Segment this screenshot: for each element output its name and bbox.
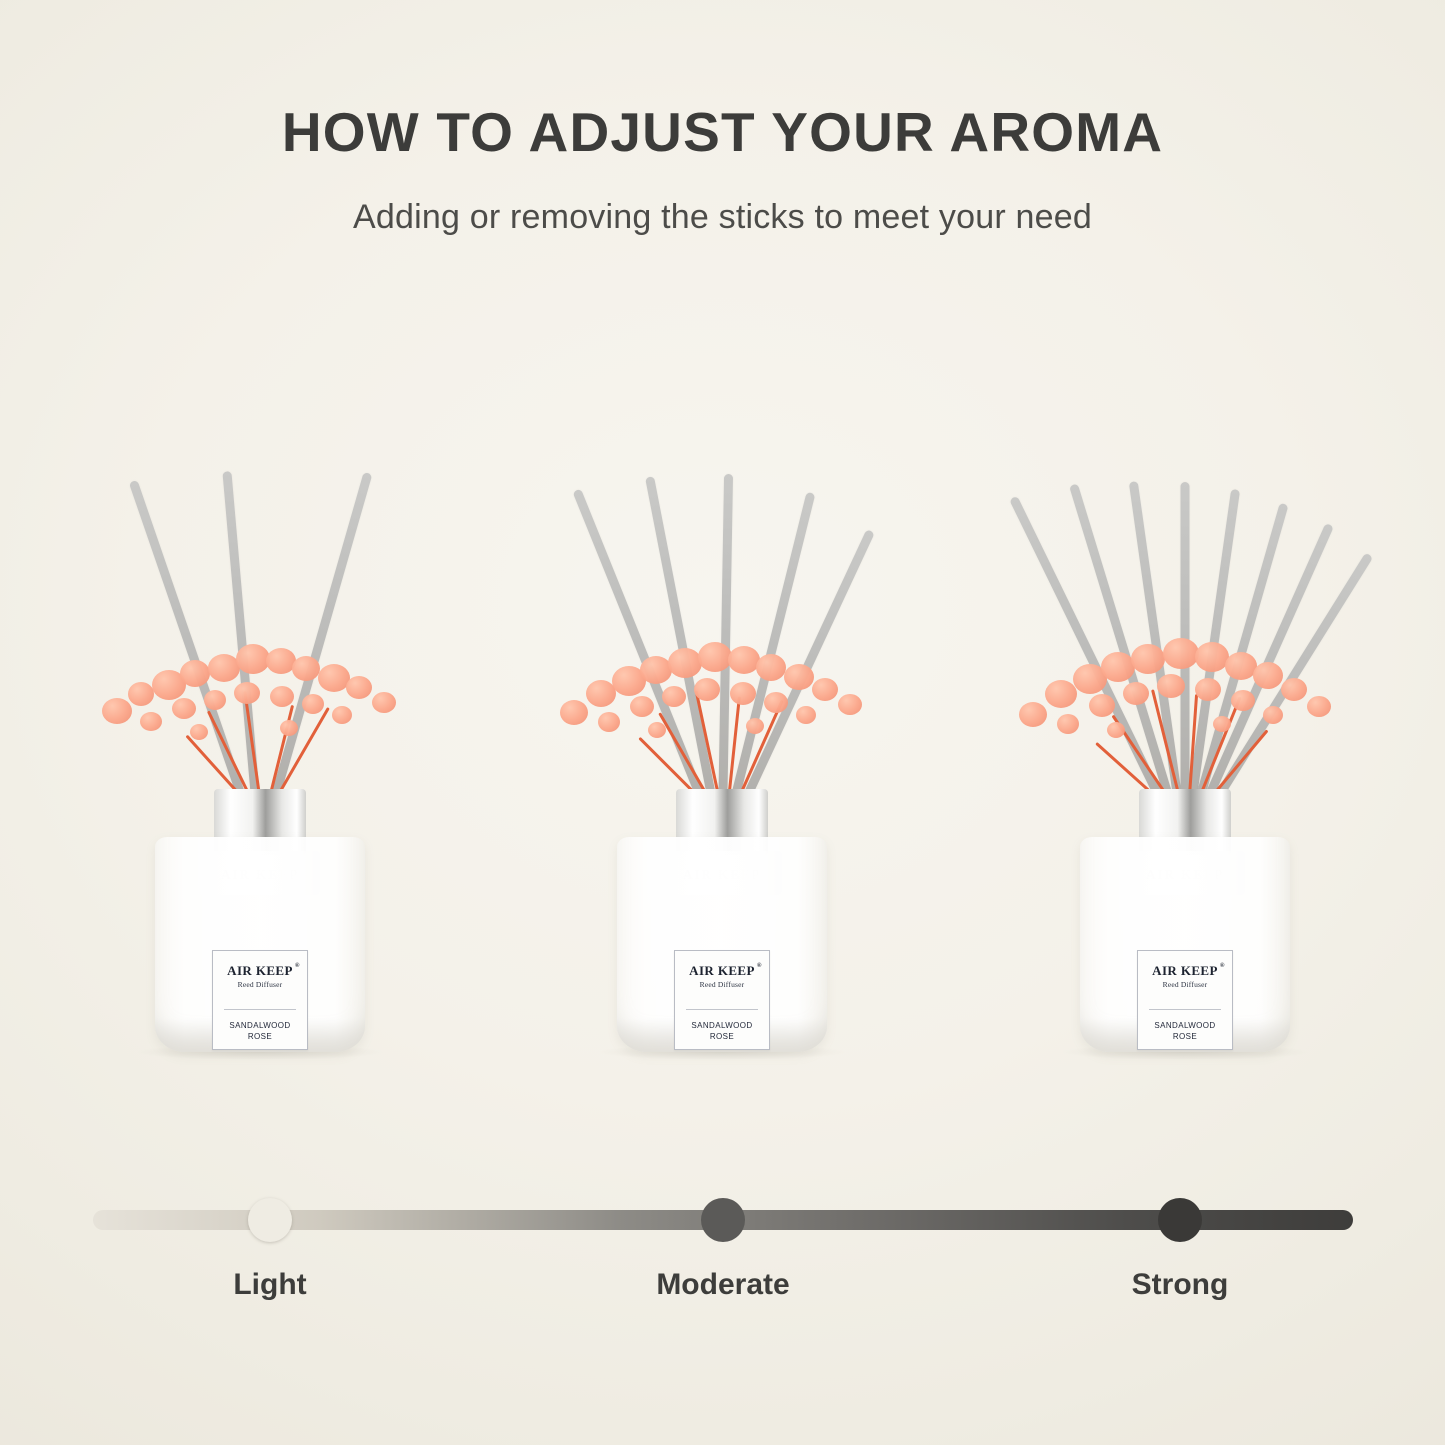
product-light: AIR KEEP AIR KEEP® Reed Diffuser SANDALW… xyxy=(25,330,495,1110)
brand-name: AIR KEEP xyxy=(1152,963,1218,978)
dried-flowers xyxy=(80,620,440,810)
label-divider xyxy=(686,1009,758,1010)
header: HOW TO ADJUST YOUR AROMA Adding or remov… xyxy=(0,104,1445,237)
slider-label-light: Light xyxy=(233,1268,306,1302)
bottle-label: AIR KEEP® Reed Diffuser SANDALWOOD ROSE xyxy=(1137,950,1233,1050)
scent-name-line2: ROSE xyxy=(1154,1031,1215,1042)
brand-subtitle: Reed Diffuser xyxy=(1163,980,1208,989)
registered-mark-icon: ® xyxy=(1220,963,1225,969)
slider-knob-moderate[interactable] xyxy=(701,1198,745,1242)
brand-subtitle: Reed Diffuser xyxy=(238,980,283,989)
brand-name: AIR KEEP xyxy=(689,963,755,978)
product-strong: AIR KEEP AIR KEEP® Reed Diffuser SANDALW… xyxy=(950,330,1420,1110)
page-title: HOW TO ADJUST YOUR AROMA xyxy=(0,104,1445,162)
scent-name-line1: SANDALWOOD xyxy=(229,1020,290,1031)
bottle-label: AIR KEEP® Reed Diffuser SANDALWOOD ROSE xyxy=(674,950,770,1050)
label-divider xyxy=(1149,1009,1221,1010)
registered-mark-icon: ® xyxy=(295,963,300,969)
slider-knob-strong[interactable] xyxy=(1158,1198,1202,1242)
label-divider xyxy=(224,1009,296,1010)
brand-subtitle: Reed Diffuser xyxy=(700,980,745,989)
scent-name-line2: ROSE xyxy=(691,1031,752,1042)
brand-name: AIR KEEP xyxy=(227,963,293,978)
product-row: AIR KEEP AIR KEEP® Reed Diffuser SANDALW… xyxy=(0,330,1445,1110)
scent-name-line1: SANDALWOOD xyxy=(1154,1020,1215,1031)
slider-knob-light[interactable] xyxy=(248,1198,292,1242)
product-moderate: AIR KEEP AIR KEEP® Reed Diffuser SANDALW… xyxy=(487,330,957,1110)
page-subtitle: Adding or removing the sticks to meet yo… xyxy=(0,198,1445,237)
bottle-label: AIR KEEP® Reed Diffuser SANDALWOOD ROSE xyxy=(212,950,308,1050)
slider-label-moderate: Moderate xyxy=(656,1268,789,1302)
registered-mark-icon: ® xyxy=(757,963,762,969)
intensity-slider[interactable]: Light Moderate Strong xyxy=(0,1180,1445,1380)
slider-label-strong: Strong xyxy=(1132,1268,1229,1302)
scent-name-line1: SANDALWOOD xyxy=(691,1020,752,1031)
scent-name-line2: ROSE xyxy=(229,1031,290,1042)
aroma-adjust-infographic: HOW TO ADJUST YOUR AROMA Adding or remov… xyxy=(0,0,1445,1445)
